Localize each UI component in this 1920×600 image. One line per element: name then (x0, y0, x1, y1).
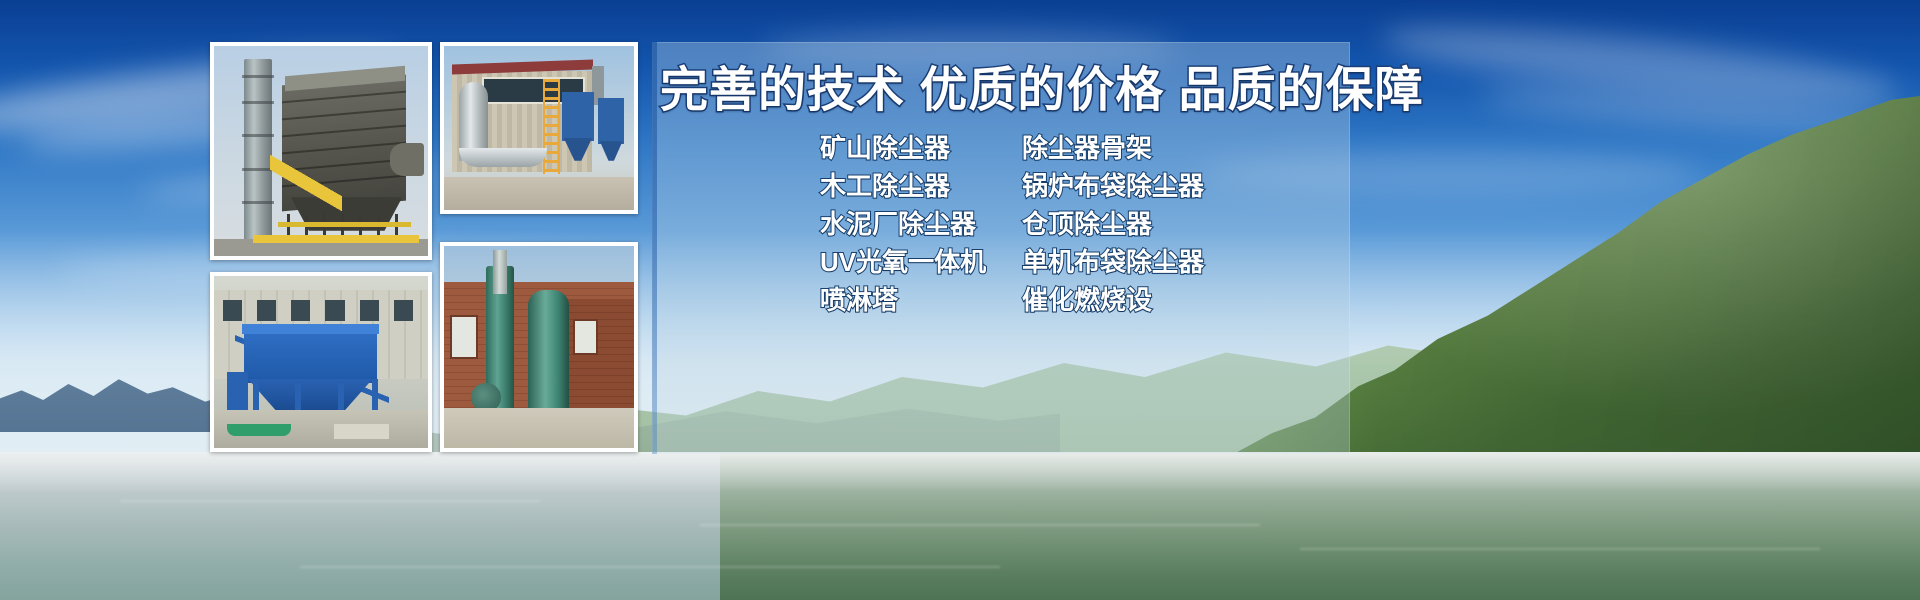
photo-scrubber-towers[interactable] (440, 242, 638, 452)
product-name-right: 除尘器骨架 (1000, 128, 1152, 165)
water-glint (0, 452, 1920, 492)
product-name-right: 锅炉布袋除尘器 (1000, 166, 1204, 203)
photo-workshop-ducting[interactable] (440, 42, 638, 214)
page-title: 完善的技术 优质的价格 品质的保障 (660, 62, 1350, 120)
photo-blue-bag-filter[interactable] (210, 272, 432, 452)
product-name-right: 仓顶除尘器 (1000, 204, 1152, 241)
water-ripple (300, 566, 1000, 568)
list-item[interactable]: 木工除尘器 锅炉布袋除尘器 (660, 166, 1350, 204)
list-item[interactable]: 水泥厂除尘器 仓顶除尘器 (660, 204, 1350, 242)
water-ripple (700, 524, 1260, 526)
product-name-right: 催化燃烧设 (1000, 280, 1152, 317)
product-name-right: 单机布袋除尘器 (1000, 242, 1204, 279)
list-item[interactable]: 矿山除尘器 除尘器骨架 (660, 128, 1350, 166)
product-name-left: 矿山除尘器 (660, 128, 1000, 165)
photo-dust-collector-plant[interactable] (210, 42, 432, 260)
panel-left-accent-bar (652, 42, 657, 454)
product-list: 矿山除尘器 除尘器骨架 木工除尘器 锅炉布袋除尘器 水泥厂除尘器 仓顶除尘器 U… (660, 128, 1350, 318)
list-item[interactable]: 喷淋塔 催化燃烧设 (660, 280, 1350, 318)
product-name-left: 喷淋塔 (660, 280, 1000, 317)
water-ripple (120, 500, 540, 502)
product-name-left: UV光氧一体机 (660, 242, 1000, 279)
promo-banner: 完善的技术 优质的价格 品质的保障 矿山除尘器 除尘器骨架 木工除尘器 锅炉布袋… (0, 0, 1920, 600)
product-name-left: 木工除尘器 (660, 166, 1000, 203)
list-item[interactable]: UV光氧一体机 单机布袋除尘器 (660, 242, 1350, 280)
product-name-left: 水泥厂除尘器 (660, 204, 1000, 241)
water-ripple (1300, 548, 1820, 550)
